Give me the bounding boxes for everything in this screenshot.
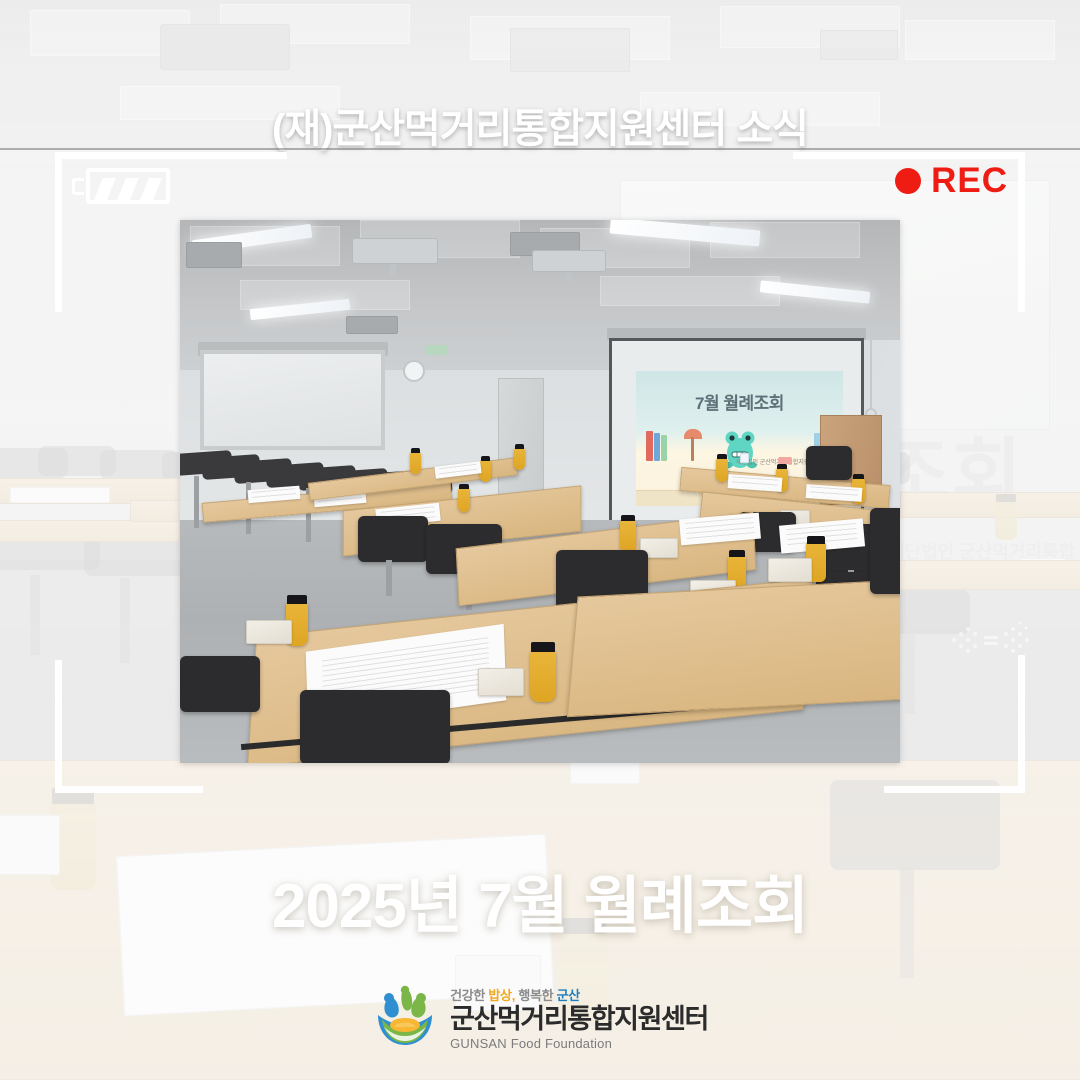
bracket-top-left-vertical [55,152,62,312]
logo-tagline-part3: 행복한 [515,988,557,1003]
event-headline: 2025년 7월 월례조회 [0,855,1080,945]
header-divider [0,148,1080,150]
rec-label: REC [931,163,1008,198]
bracket-top-right-vertical [1018,152,1025,312]
rec-indicator: REC [895,163,1008,198]
photo-whiteboard [200,350,385,450]
photo-slide-title: 7월 월례조회 [636,389,843,414]
photo-screen-cord [870,340,872,410]
conference-room-photo: 7월 월례조회 재단법인 군산먹거리통합지원센터 [180,220,900,763]
logo-tagline-part2: 밥상, [488,988,515,1003]
bracket-bottom-right-vertical [1018,655,1025,793]
logo-text-block: 건강한 밥상, 행복한 군산 군산먹거리통합지원센터 GUNSAN Food F… [450,985,708,1050]
photo-exit-sign [426,345,448,355]
photo-door [498,378,544,496]
page-title: (재)군산먹거리통합지원센터 소식 [0,96,1080,154]
battery-body [86,168,170,204]
bracket-bottom-left-horizontal [55,786,203,793]
gunsan-food-foundation-logo-mark [372,985,438,1051]
battery-icon [72,168,170,204]
logo-tagline: 건강한 밥상, 행복한 군산 [450,985,708,1004]
photo-wall-clock [403,360,425,382]
dots-equals-deco-icon [948,620,1030,660]
logo-organization-name: 군산먹거리통합지원센터 [450,1005,708,1033]
organization-logo: 건강한 밥상, 행복한 군산 군산먹거리통합지원센터 GUNSAN Food F… [0,985,1080,1051]
logo-english-name: GUNSAN Food Foundation [450,1036,708,1051]
rec-dot-icon [895,168,921,194]
logo-tagline-part1: 건강한 [450,988,488,1003]
bracket-top-left-horizontal [55,152,287,159]
bracket-bottom-left-vertical [55,660,62,793]
bracket-bottom-right-horizontal [884,786,1025,793]
logo-tagline-part4: 군산 [557,988,580,1003]
bracket-top-right-horizontal [793,152,1025,159]
battery-terminal-icon [72,178,84,195]
